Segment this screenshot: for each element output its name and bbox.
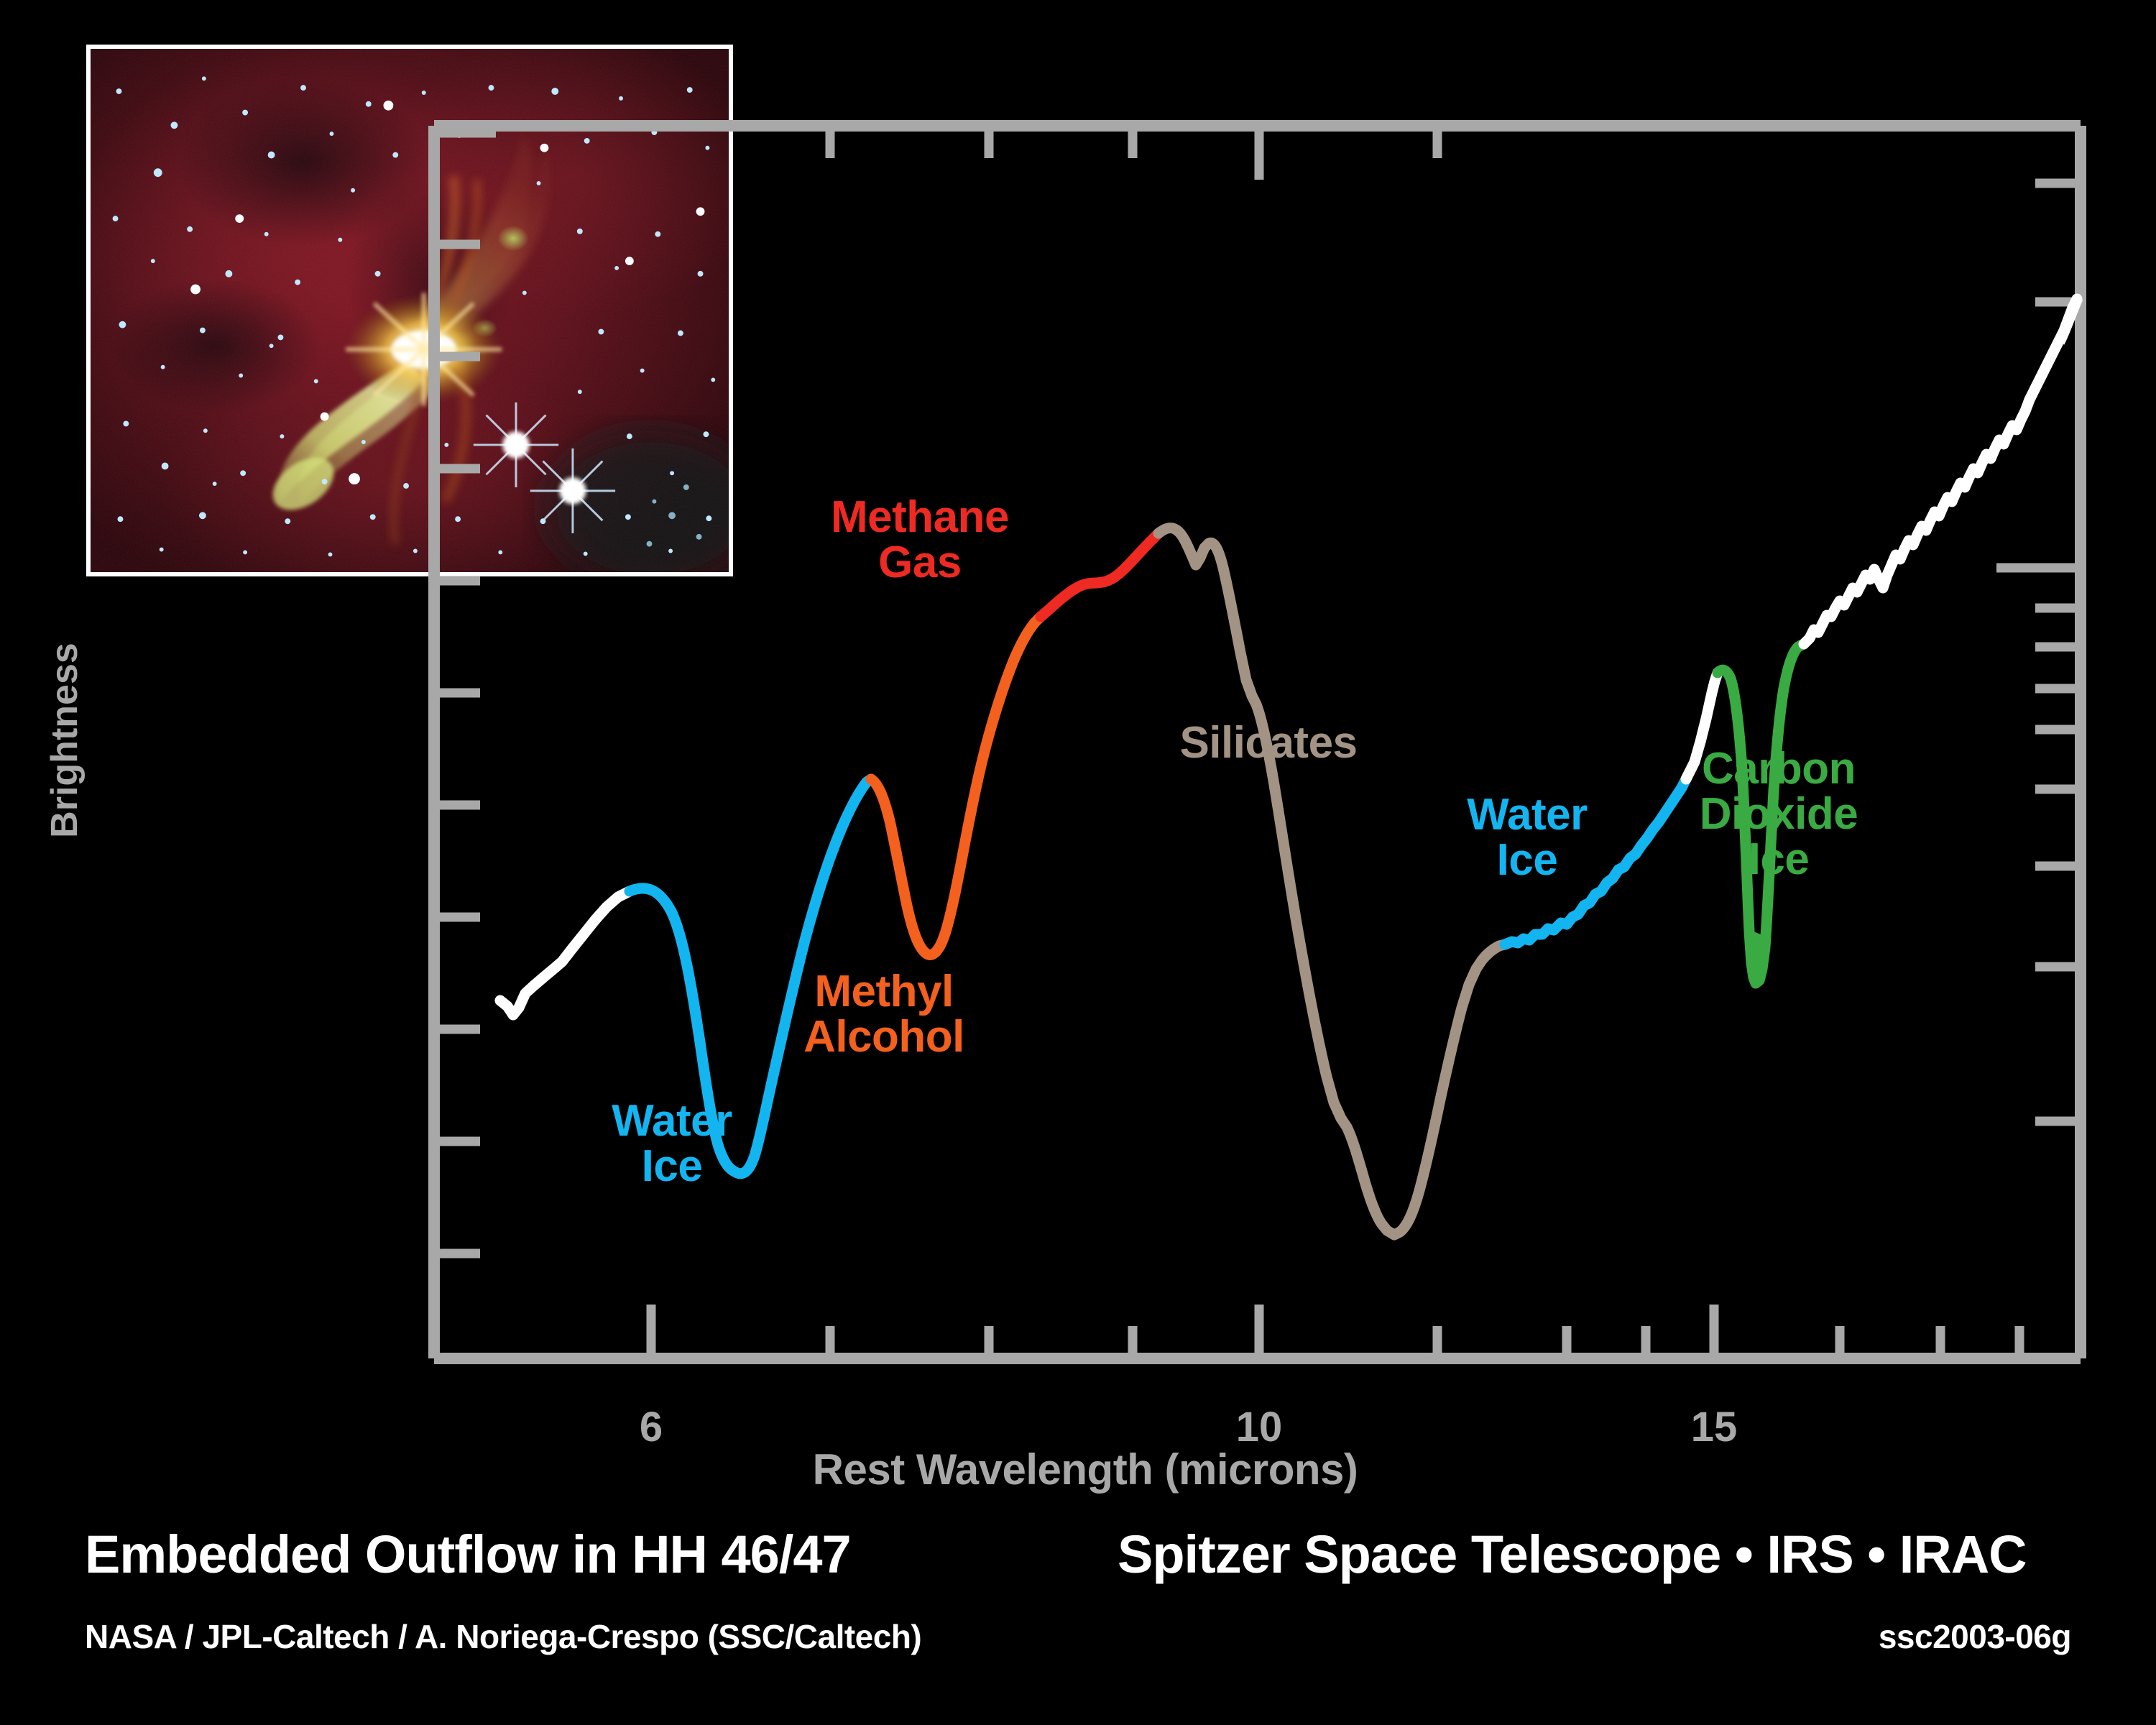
annotation-water-ice-13um-line1: Water [1383, 792, 1671, 837]
annotation-water-ice-13um: Water Ice [1383, 792, 1671, 883]
annotation-silicates-line1: Silicates [1125, 720, 1412, 765]
annotation-carbon-dioxide-ice-line1: Carbon [1635, 746, 1922, 791]
annotation-methane-gas-line2: Gas [776, 540, 1064, 585]
annotation-methane-gas-line1: Methane [776, 494, 1064, 540]
x-axis-ticks-top [830, 126, 1437, 180]
segment-continuum-rise [500, 891, 630, 1015]
annotation-methyl-alcohol-line2: Alcohol [740, 1014, 1028, 1059]
footer-credit: NASA / JPL-Caltech / A. Noriega-Crespo (… [85, 1617, 921, 1656]
segment-continuum-far [1804, 299, 2077, 644]
annotation-carbon-dioxide-ice-line2: Dioxide [1635, 791, 1922, 837]
x-tick-label-6: 6 [594, 1403, 709, 1451]
figure-footer: Embedded Outflow in HH 46/47 Spitzer Spa… [0, 1524, 2156, 1725]
y-axis-title: Brightness [43, 589, 86, 891]
x-tick-label-15: 15 [1657, 1403, 1772, 1451]
annotation-carbon-dioxide-ice-line3: Ice [1635, 837, 1922, 882]
x-axis-title: Rest Wavelength (microns) [762, 1445, 1409, 1494]
figure-root: 6 10 15 Rest Wavelength (microns) Bright… [0, 0, 2156, 1725]
annotation-methyl-alcohol: Methyl Alcohol [740, 969, 1028, 1059]
y-axis-ticks-left [434, 133, 496, 1253]
footer-right-title: Spitzer Space Telescope • IRS • IRAC [1118, 1524, 2027, 1585]
annotation-water-ice-6um: Water Ice [528, 1098, 816, 1189]
footer-release-id: ssc2003-06g [1879, 1617, 2071, 1656]
footer-left-title: Embedded Outflow in HH 46/47 [85, 1524, 851, 1585]
segment-methyl-alcohol [871, 617, 1041, 954]
x-tick-label-10: 10 [1202, 1403, 1317, 1451]
annotation-carbon-dioxide-ice: Carbon Dioxide Ice [1635, 746, 1922, 883]
annotation-water-ice-6um-line1: Water [528, 1098, 816, 1144]
annotation-water-ice-6um-line2: Ice [528, 1144, 816, 1189]
annotation-methyl-alcohol-line1: Methyl [740, 969, 1028, 1014]
x-axis-ticks [651, 1305, 2019, 1358]
annotation-silicates: Silicates [1125, 720, 1412, 765]
annotation-methane-gas: Methane Gas [776, 494, 1064, 585]
annotation-water-ice-13um-line2: Ice [1383, 837, 1671, 883]
